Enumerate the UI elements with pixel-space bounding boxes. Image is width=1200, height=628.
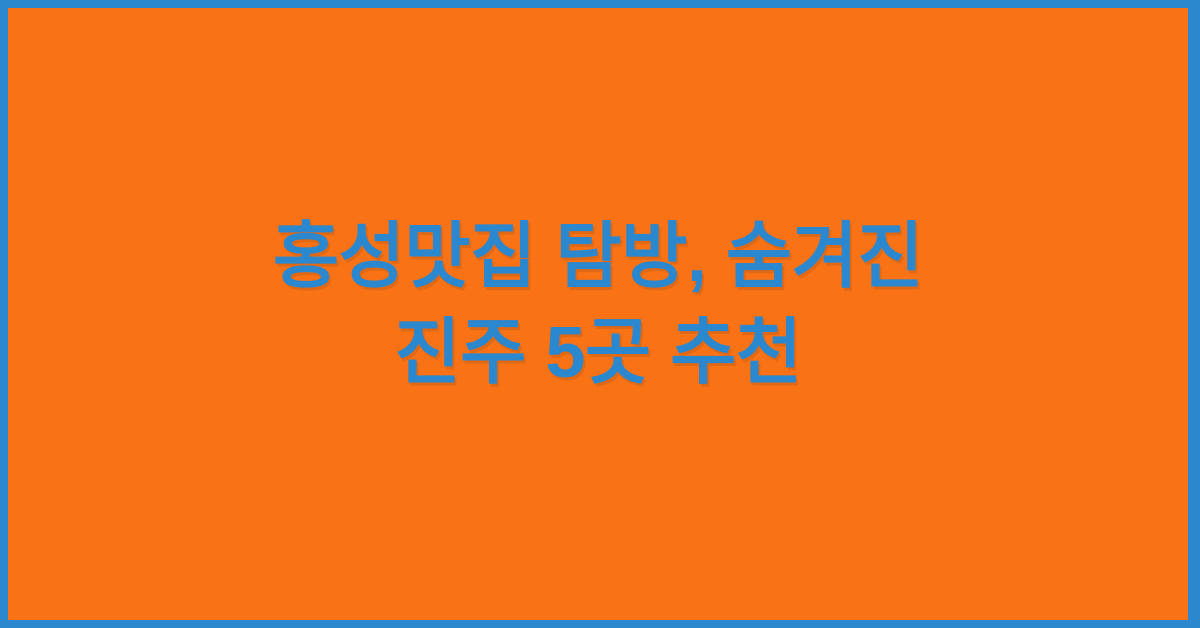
title-line-1: 홍성맛집 탐방, 숨겨진 [68, 210, 1128, 306]
card-canvas: 홍성맛집 탐방, 숨겨진 진주 5곳 추천 [8, 8, 1188, 620]
title-line-2: 진주 5곳 추천 [68, 306, 1128, 402]
page-title: 홍성맛집 탐방, 숨겨진 진주 5곳 추천 [68, 210, 1128, 402]
title-block: 홍성맛집 탐방, 숨겨진 진주 5곳 추천 [8, 210, 1188, 402]
thumbnail-card: 홍성맛집 탐방, 숨겨진 진주 5곳 추천 [0, 0, 1200, 628]
